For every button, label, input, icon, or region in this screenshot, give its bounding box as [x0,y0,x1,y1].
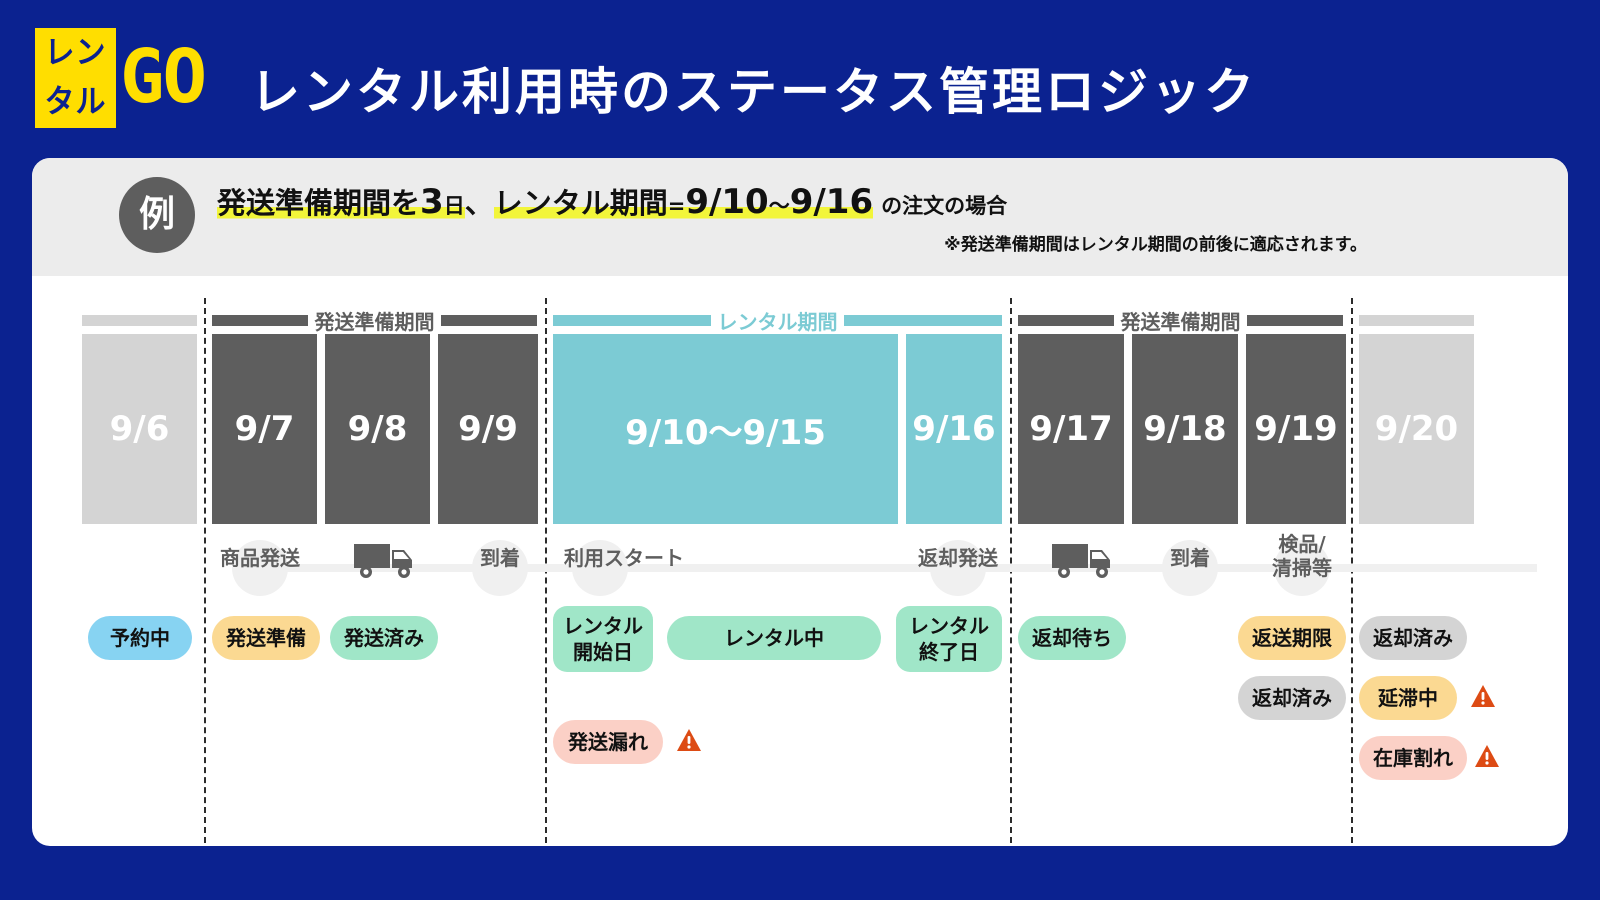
status-badge-awaiting-return[interactable]: 返却待ち [1018,616,1126,660]
period-bar-left [212,315,308,326]
period-group-rental: レンタル期間 [553,306,1002,336]
status-badge-rental-start[interactable]: レンタル 開始日 [553,606,653,672]
event-label-return-ship: 返却発送 [902,546,1014,570]
date-box-9-10-to-9-15: 9/10～9/15 [553,334,898,524]
example-range-start: 9/10 [685,182,768,222]
status-badge-rental-end[interactable]: レンタル 終了日 [896,606,1002,672]
page-header: レン タル GO レンタル利用時のステータス管理ロジック [0,0,1600,150]
example-headline-eq: = [668,194,686,218]
date-box-9-18: 9/18 [1132,334,1238,524]
warning-icon [676,728,702,752]
example-strip: 例 発送準備期間を3日、レンタル期間=9/10～9/16の注文の場合 ※発送準備… [32,158,1568,276]
status-badge-stock-shortage[interactable]: 在庫割れ [1359,736,1467,780]
event-label-arrival-2: 到着 [1146,546,1234,570]
status-badge-return-deadline[interactable]: 返送期限 [1238,616,1346,660]
period-bar-left [1018,315,1114,326]
status-badge-renting[interactable]: レンタル中 [667,616,881,660]
warning-icon [1474,744,1500,768]
period-bar-right [844,315,1002,326]
main-card: 例 発送準備期間を3日、レンタル期間=9/10～9/16の注文の場合 ※発送準備… [32,158,1568,846]
status-badge-reserved[interactable]: 予約中 [88,616,192,660]
event-label-arrival-1: 到着 [456,546,544,570]
example-note: ※発送準備期間はレンタル期間の前後に適応されます。 [217,230,1367,255]
logo-kana-line2: タル [45,78,107,127]
status-badge-returned-2[interactable]: 返却済み [1359,616,1467,660]
date-box-9-17: 9/17 [1018,334,1124,524]
status-badge-returned-1[interactable]: 返却済み [1238,676,1346,720]
period-group-prep-2: 発送準備期間 [1018,306,1343,336]
example-badge: 例 [119,177,195,253]
example-headline-tail: の注文の場合 [873,194,1007,218]
event-label-use-start: 利用スタート [548,546,700,570]
date-box-9-19: 9/19 [1246,334,1346,524]
status-badge-overdue[interactable]: 延滞中 [1359,676,1457,720]
logo-kana-text: レン タル [35,25,116,131]
truck-icon [1050,540,1118,580]
example-range-end: 9/16 [790,182,873,222]
logo-go-text: GO [120,38,192,118]
divider-1 [204,298,206,843]
date-box-9-20: 9/20 [1359,334,1474,524]
event-label-inspection-cleaning: 検品/ 清掃等 [1242,532,1362,580]
status-badge-shipping-missed[interactable]: 発送漏れ [553,720,663,764]
period-label: レンタル期間 [711,306,844,335]
date-box-9-9: 9/9 [438,334,538,524]
period-bar-post [1359,315,1474,326]
period-label: 発送準備期間 [308,306,441,335]
example-headline-sep: 、 [465,186,494,220]
status-badge-prep[interactable]: 発送準備 [212,616,320,660]
example-headline-part2: レンタル期間 [494,186,668,220]
page-title: レンタル利用時のステータス管理ロジック [250,52,1257,124]
example-headline-days: 3 [420,182,444,222]
status-badge-shipped[interactable]: 発送済み [330,616,438,660]
brand-logo: レン タル GO [22,20,195,135]
period-bar-left [553,315,711,326]
date-box-9-6: 9/6 [82,334,197,524]
period-label: 発送準備期間 [1114,306,1247,335]
period-bar-right [441,315,537,326]
period-group-prep-1: 発送準備期間 [212,306,537,336]
period-bar-right [1247,315,1343,326]
logo-kana-line1: レン [45,29,107,78]
warning-icon [1470,684,1496,708]
example-headline-part1: 発送準備期間を [217,186,420,220]
example-range-tilde: ～ [769,194,790,218]
timeline: 発送準備期間 レンタル期間 発送準備期間 9/6 9/7 9/8 9/9 9/1… [32,276,1568,846]
example-headline: 発送準備期間を3日、レンタル期間=9/10～9/16の注文の場合 [217,180,1007,228]
event-label-ship-product: 商品発送 [204,546,316,570]
date-box-9-7: 9/7 [212,334,317,524]
date-box-9-8: 9/8 [325,334,430,524]
period-bar-pre [82,315,197,326]
date-box-9-16: 9/16 [906,334,1002,524]
example-headline-days-unit: 日 [444,194,465,218]
truck-icon [352,540,420,580]
